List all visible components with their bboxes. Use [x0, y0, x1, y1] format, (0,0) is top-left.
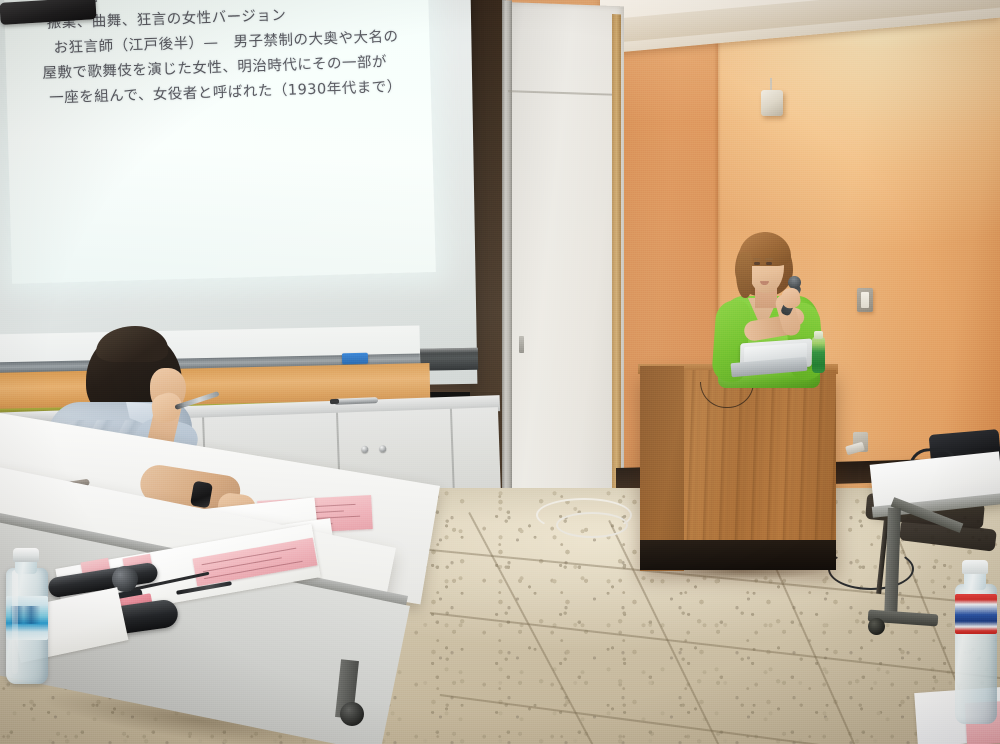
speaker-eyebrow-left — [753, 258, 761, 260]
water-bottle-right-cap[interactable] — [962, 560, 988, 574]
green-tea-bottle[interactable] — [812, 337, 825, 373]
partition-door-jamb — [612, 14, 621, 495]
cabinet-knob[interactable] — [379, 445, 386, 452]
side-table-caster — [868, 618, 885, 635]
speaker-eye-right — [766, 262, 772, 265]
speaker-hair-side — [736, 252, 752, 298]
lecture-room-photo: 者： 振業、曲舞、狂言の女性バージョン お狂言師（江戸後半）— 男子禁制の大奥や… — [0, 0, 1000, 744]
speaker-eye-left — [754, 262, 760, 265]
sliding-partition-door[interactable] — [504, 2, 624, 528]
podium-base-trim — [640, 540, 836, 570]
wall-speaker-icon — [761, 90, 783, 116]
pointer-stick-tip — [330, 399, 339, 404]
water-bottle-highlight — [12, 570, 18, 674]
floor-cable-loop — [556, 512, 628, 538]
green-bottle-cap[interactable] — [814, 331, 823, 339]
folding-table-caster — [340, 702, 364, 726]
water-bottle-cap[interactable] — [13, 548, 39, 562]
partition-door-edge — [502, 0, 512, 530]
slide-text-block: 者： 振業、曲舞、狂言の女性バージョン お狂言師（江戸後半）— 男子禁制の大奥や… — [12, 0, 427, 139]
light-switch-rocker[interactable] — [861, 292, 869, 308]
whiteboard-eraser-icon[interactable] — [342, 353, 368, 365]
cabinet-knob[interactable] — [361, 446, 368, 453]
speaker-eyebrow-right — [765, 258, 773, 260]
partition-door-handle[interactable] — [519, 336, 524, 353]
water-bottle-right-label — [955, 594, 997, 634]
